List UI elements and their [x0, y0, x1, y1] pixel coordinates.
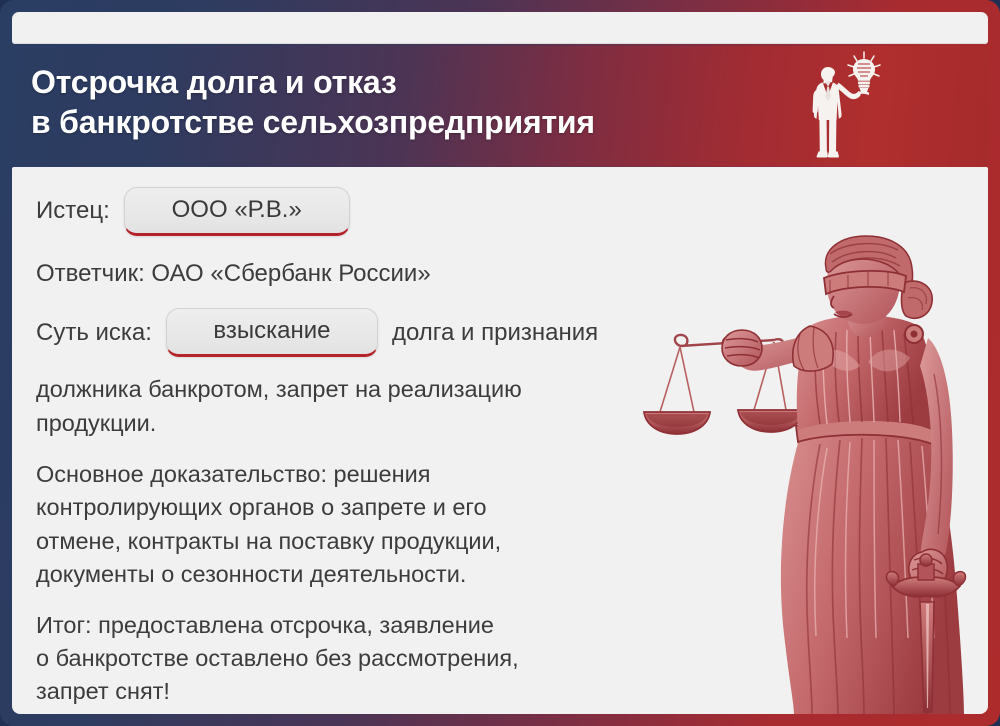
defendant-text: Ответчик: ОАО «Сбербанк России» [36, 258, 964, 290]
businessman-with-lightbulb-icon [802, 48, 892, 164]
outcome-text: Итог: предоставлена отсрочка, заявление … [36, 609, 686, 709]
claim-continuation-text: должника банкротом, запрет на реализацию… [36, 373, 686, 440]
page-title: Отсрочка долга и отказ в банкротстве сел… [31, 62, 595, 143]
case-summary: Истец: ООО «Р.В.» Ответчик: ОАО «Сбербан… [12, 167, 988, 709]
claim-after-pill-text: долга и признания [392, 317, 598, 349]
content-panel: Истец: ООО «Р.В.» Ответчик: ОАО «Сбербан… [12, 167, 988, 714]
claim-label: Суть иска: [36, 317, 152, 349]
plaintiff-value-chip[interactable]: ООО «Р.В.» [124, 187, 350, 236]
header-band: Отсрочка долга и отказ в банкротстве сел… [12, 46, 988, 166]
infographic-card: Отсрочка долга и отказ в банкротстве сел… [0, 0, 1000, 726]
claim-row: Суть иска: взыскание долга и признания [36, 308, 964, 357]
plaintiff-label: Истец: [36, 195, 110, 227]
plaintiff-row: Истец: ООО «Р.В.» [36, 187, 964, 236]
evidence-text: Основное доказательство: решения контрол… [36, 458, 686, 591]
top-strip [12, 12, 988, 44]
claim-value-chip[interactable]: взыскание [166, 308, 378, 357]
